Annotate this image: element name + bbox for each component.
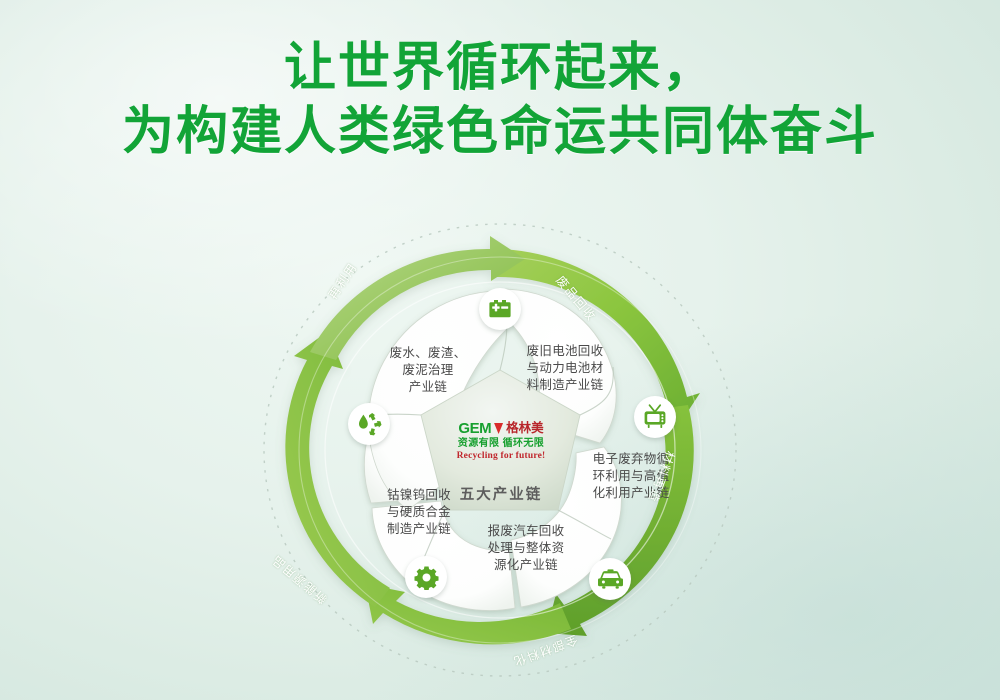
circular-economy-diagram: 再利用 废品回收 材料再造 全部材料化 新能源用品 废旧电池回收 与动力电池材 … — [253, 215, 747, 685]
gem-logo: GEM 格林美 资源有限 循环无限 Recycling for future! — [441, 420, 561, 462]
center-caption: 五大产业链 — [441, 483, 561, 504]
gear-icon — [414, 565, 439, 590]
gear-icon-bubble[interactable] — [405, 556, 447, 598]
tv-icon — [642, 404, 668, 430]
segment-label-water: 废水、废渣、 废泥治理 产业链 — [373, 345, 483, 396]
water-recycle-icon — [356, 412, 383, 437]
logo-gem-text: GEM — [458, 421, 491, 436]
logo-triangle-icon — [494, 423, 503, 434]
battery-icon — [487, 297, 513, 321]
car-icon — [597, 569, 624, 589]
page-title: 让世界循环起来， 为构建人类绿色命运共同体奋斗 — [0, 36, 1000, 164]
logo-wordmark-row: GEM 格林美 — [441, 420, 561, 437]
segment-label-battery: 废旧电池回收 与动力电池材 料制造产业链 — [506, 343, 624, 394]
segment-label-auto: 报废汽车回收 处理与整体资 源化产业链 — [468, 523, 584, 574]
logo-tagline: Recycling for future! — [441, 451, 561, 462]
car-icon-bubble[interactable] — [589, 558, 631, 600]
logo-slogan: 资源有限 循环无限 — [441, 438, 561, 450]
water-recycle-icon-bubble[interactable] — [348, 403, 390, 445]
battery-icon-bubble[interactable] — [479, 288, 521, 330]
title-line-1: 让世界循环起来， — [0, 36, 1000, 100]
title-line-2: 为构建人类绿色命运共同体奋斗 — [0, 100, 1000, 164]
tv-icon-bubble[interactable] — [634, 396, 676, 438]
logo-chinese-name: 格林美 — [506, 422, 544, 435]
